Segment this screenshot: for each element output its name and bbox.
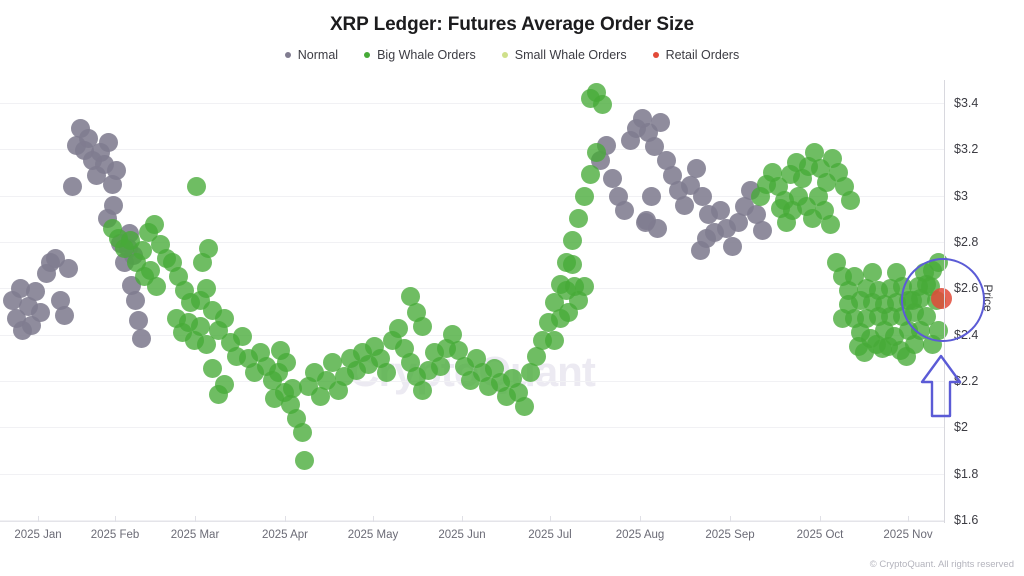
x-axis-tick-label: 2025 Jan [14, 529, 61, 541]
legend-label: Retail Orders [666, 48, 740, 62]
legend-item-big-whale-orders[interactable]: Big Whale Orders [364, 48, 476, 62]
scatter-point [99, 133, 118, 152]
scatter-point [135, 267, 154, 286]
scatter-point [413, 317, 432, 336]
page-title: XRP Ledger: Futures Average Order Size [0, 14, 1024, 36]
highlight-circle-annotation [901, 258, 985, 342]
scatter-point [401, 287, 420, 306]
x-axis-tick [640, 516, 641, 522]
x-axis-tick [38, 516, 39, 522]
x-axis-tick [373, 516, 374, 522]
x-axis-tick [462, 516, 463, 522]
scatter-point [63, 177, 82, 196]
scatter-point [145, 215, 164, 234]
scatter-point [271, 341, 290, 360]
y-axis-tick-label: $2 [954, 420, 968, 434]
scatter-point [129, 311, 148, 330]
scatter-point [569, 209, 588, 228]
scatter-point [642, 187, 661, 206]
chart-root: XRP Ledger: Futures Average Order Size N… [0, 0, 1024, 576]
x-axis-tick-label: 2025 Jun [438, 529, 485, 541]
scatter-point [265, 389, 284, 408]
gridline [0, 474, 944, 475]
scatter-point [821, 215, 840, 234]
x-axis-tick [195, 516, 196, 522]
scatter-point [693, 187, 712, 206]
scatter-point [593, 95, 612, 114]
y-axis-tick-label: $1.6 [954, 513, 978, 527]
x-axis-tick-label: 2025 Nov [883, 529, 932, 541]
scatter-point [697, 229, 716, 248]
gridline [0, 149, 944, 150]
scatter-point [191, 317, 210, 336]
y-axis-tick-label: $3 [954, 189, 968, 203]
scatter-point [711, 201, 730, 220]
scatter-point [833, 309, 852, 328]
scatter-point [687, 159, 706, 178]
x-axis-tick [908, 516, 909, 522]
legend-marker-icon [653, 52, 659, 58]
scatter-point [563, 231, 582, 250]
legend-label: Normal [298, 48, 338, 62]
scatter-point [515, 397, 534, 416]
scatter-point [413, 381, 432, 400]
scatter-point [753, 221, 772, 240]
scatter-point [863, 263, 882, 282]
scatter-point [771, 199, 790, 218]
scatter-point [897, 347, 916, 366]
legend-marker-icon [285, 52, 291, 58]
arrow-shape [922, 356, 960, 416]
scatter-point [587, 143, 606, 162]
legend-label: Big Whale Orders [377, 48, 476, 62]
scatter-point [132, 329, 151, 348]
scatter-point [431, 357, 450, 376]
scatter-point [377, 363, 396, 382]
scatter-point [295, 451, 314, 470]
scatter-point [215, 375, 234, 394]
scatter-point [233, 327, 252, 346]
scatter-point [215, 309, 234, 328]
scatter-point [615, 201, 634, 220]
x-axis-tick-label: 2025 Feb [91, 529, 140, 541]
scatter-point [841, 191, 860, 210]
x-axis-tick [115, 516, 116, 522]
scatter-point [545, 331, 564, 350]
x-axis-tick-label: 2025 Sep [705, 529, 754, 541]
up-arrow-annotation [918, 352, 964, 422]
copyright-footer: © CryptoQuant. All rights reserved [870, 559, 1014, 570]
x-axis-tick-label: 2025 Jul [528, 529, 571, 541]
chart-legend: NormalBig Whale OrdersSmall Whale Orders… [0, 48, 1024, 62]
scatter-point [199, 239, 218, 258]
scatter-point [133, 241, 152, 260]
y-axis-tick-label: $1.8 [954, 467, 978, 481]
x-axis-line [0, 521, 944, 522]
plot-area: CryptoQuant [0, 80, 944, 520]
scatter-point [675, 196, 694, 215]
x-axis-tick [550, 516, 551, 522]
x-axis-tick [730, 516, 731, 522]
x-axis-tick-label: 2025 Aug [616, 529, 665, 541]
scatter-point [603, 169, 622, 188]
gridline [0, 427, 944, 428]
y-axis-tick-label: $2.8 [954, 235, 978, 249]
scatter-point [581, 165, 600, 184]
scatter-point [126, 291, 145, 310]
scatter-point [59, 259, 78, 278]
scatter-point [107, 161, 126, 180]
gridline [0, 103, 944, 104]
y-axis-tick-label: $3.2 [954, 142, 978, 156]
scatter-point [203, 359, 222, 378]
scatter-point [389, 319, 408, 338]
legend-item-retail-orders[interactable]: Retail Orders [653, 48, 740, 62]
legend-marker-icon [364, 52, 370, 58]
x-axis-tick-label: 2025 May [348, 529, 399, 541]
scatter-point [31, 303, 50, 322]
legend-item-normal[interactable]: Normal [285, 48, 338, 62]
scatter-point [197, 279, 216, 298]
legend-marker-icon [502, 52, 508, 58]
scatter-point [293, 423, 312, 442]
gridline [0, 288, 944, 289]
scatter-point [637, 211, 656, 230]
legend-label: Small Whale Orders [515, 48, 627, 62]
x-axis-tick-label: 2025 Oct [797, 529, 844, 541]
x-axis-tick-label: 2025 Apr [262, 529, 308, 541]
scatter-point [563, 255, 582, 274]
scatter-point [187, 177, 206, 196]
scatter-point [723, 237, 742, 256]
scatter-point [651, 113, 670, 132]
x-axis-tick-label: 2025 Mar [171, 529, 220, 541]
x-axis-tick [285, 516, 286, 522]
scatter-point [559, 303, 578, 322]
scatter-point [575, 187, 594, 206]
x-axis-tick [820, 516, 821, 522]
scatter-point [55, 306, 74, 325]
scatter-point [197, 335, 216, 354]
legend-item-small-whale-orders[interactable]: Small Whale Orders [502, 48, 627, 62]
y-axis-tick-label: $3.4 [954, 96, 978, 110]
scatter-point [26, 282, 45, 301]
scatter-point [565, 277, 584, 296]
